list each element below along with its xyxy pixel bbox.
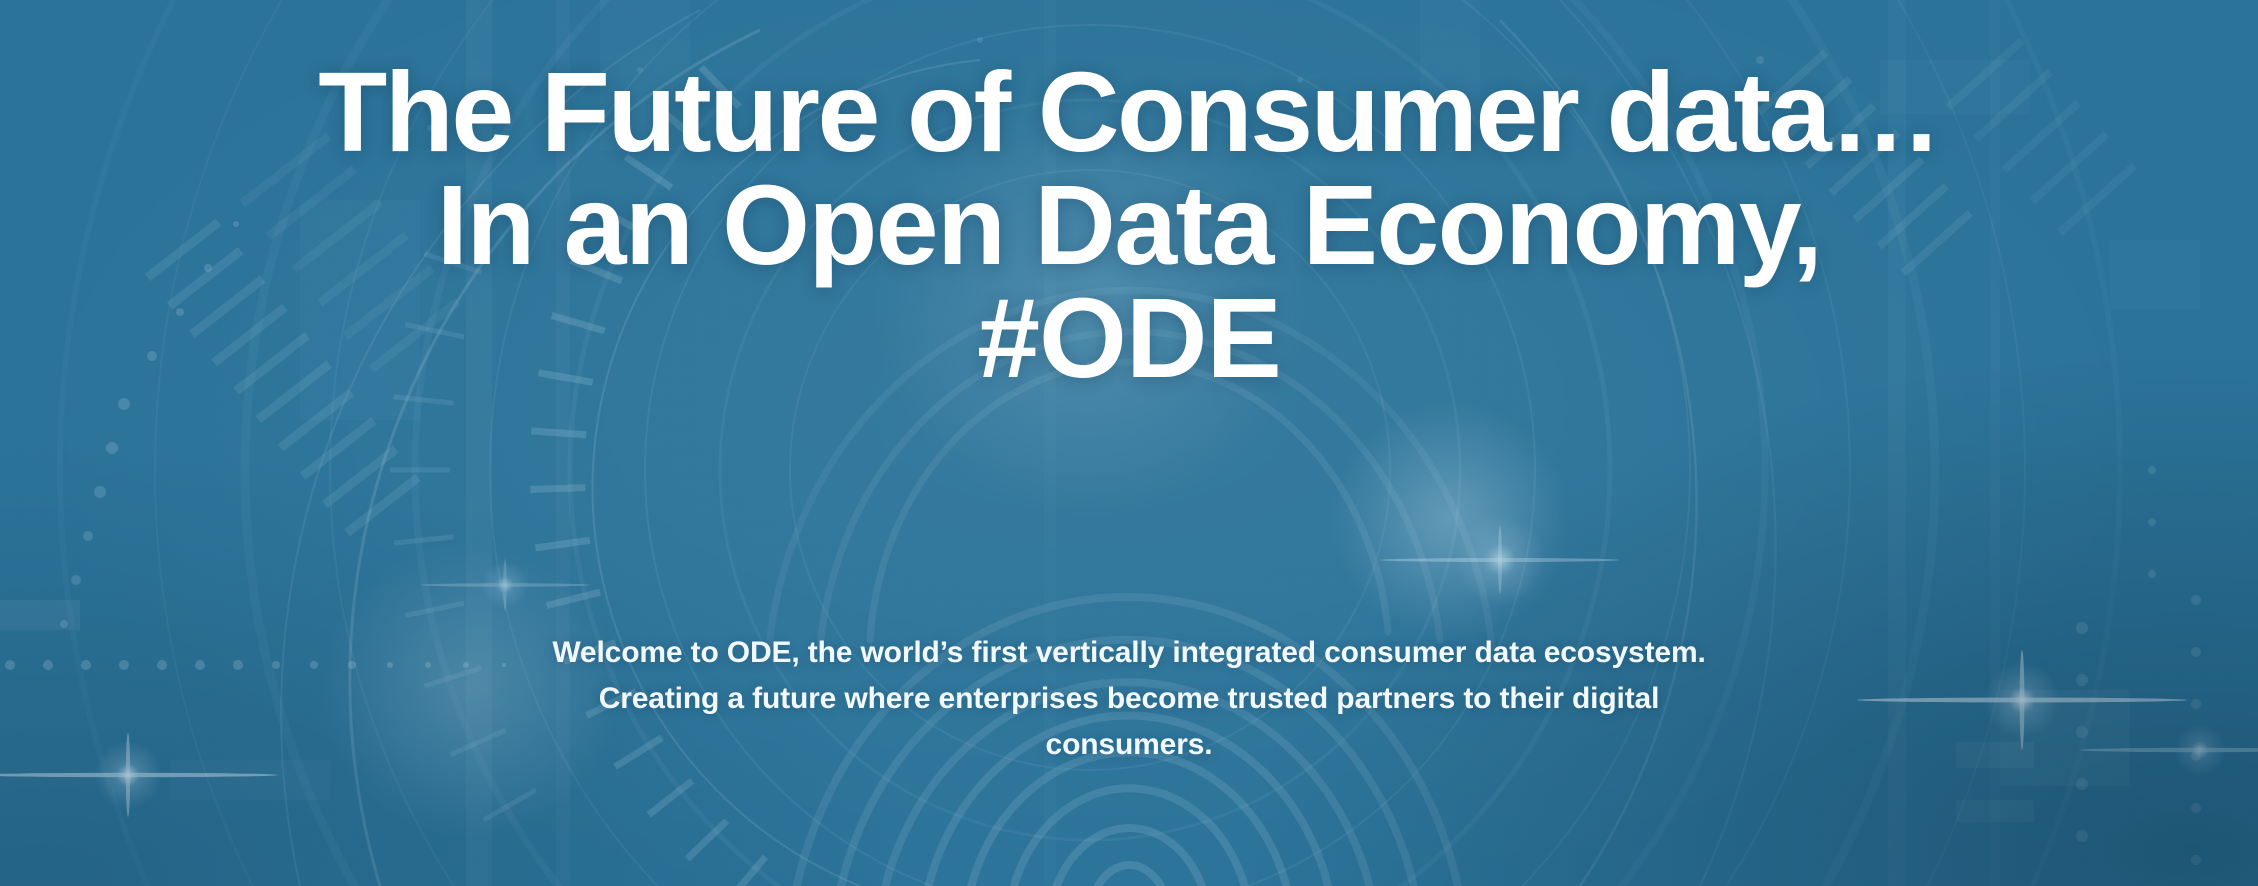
hero-banner: The Future of Consumer data… In an Open … xyxy=(0,0,2258,886)
hero-subtitle: Welcome to ODE, the world’s first vertic… xyxy=(269,630,1989,768)
hero-content: The Future of Consumer data… In an Open … xyxy=(0,0,2258,886)
hero-subtitle-line-3: consumers. xyxy=(269,722,1989,768)
hero-subtitle-line-1: Welcome to ODE, the world’s first vertic… xyxy=(269,630,1989,676)
hero-headline-line-3: #ODE xyxy=(0,282,2258,395)
hero-headline-line-2: In an Open Data Economy, xyxy=(0,169,2258,282)
hero-headline: The Future of Consumer data… In an Open … xyxy=(0,56,2258,395)
hero-headline-line-1: The Future of Consumer data… xyxy=(0,56,2258,169)
hero-subtitle-line-2: Creating a future where enterprises beco… xyxy=(269,676,1989,722)
